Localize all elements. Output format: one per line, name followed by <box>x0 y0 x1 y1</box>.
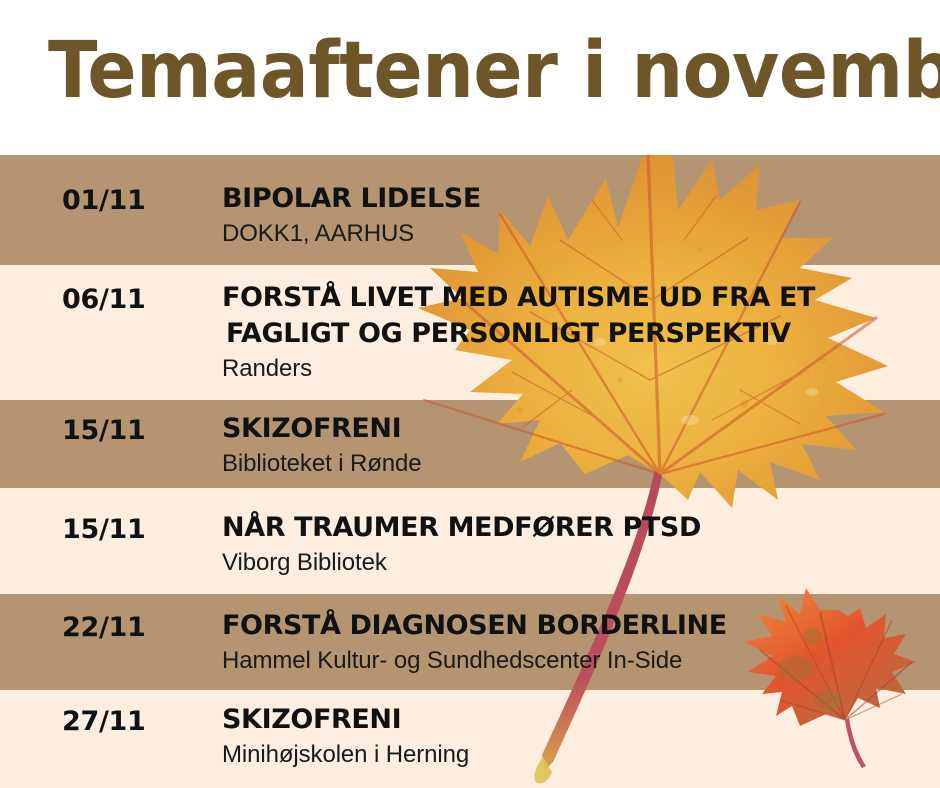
event-date: 27/11 <box>62 706 146 738</box>
event-place: Minihøjskolen i Herning <box>222 740 930 770</box>
schedule-row[interactable]: 15/11 NÅR TRAUMER MEDFØRER PTSD Viborg B… <box>0 488 940 594</box>
event-title-line1: NÅR TRAUMER MEDFØRER PTSD <box>222 512 701 543</box>
event-title-line1: FORSTÅ LIVET MED AUTISME UD FRA ET <box>222 282 815 313</box>
event-place: Randers <box>222 354 930 384</box>
page-title: Temaaftener i november <box>48 23 940 119</box>
event-info: BIPOLAR LIDELSE DOKK1, AARHUS <box>222 181 930 249</box>
event-info: SKIZOFRENI Minihøjskolen i Herning <box>222 702 930 770</box>
event-date: 06/11 <box>62 284 146 316</box>
event-title-line2: FAGLIGT OG PERSONLIGT PERSPEKTIV <box>226 316 930 352</box>
schedule-row[interactable]: 27/11 SKIZOFRENI Minihøjskolen i Herning <box>0 690 940 788</box>
event-place: DOKK1, AARHUS <box>222 219 930 249</box>
event-title: SKIZOFRENI <box>222 702 930 738</box>
event-place: Biblioteket i Rønde <box>222 449 930 479</box>
schedule-row[interactable]: 01/11 BIPOLAR LIDELSE DOKK1, AARHUS <box>0 155 940 265</box>
schedule-row[interactable]: 22/11 FORSTÅ DIAGNOSEN BORDERLINE Hammel… <box>0 594 940 690</box>
event-date: 15/11 <box>62 514 146 546</box>
schedule-row[interactable]: 06/11 FORSTÅ LIVET MED AUTISME UD FRA ET… <box>0 265 940 400</box>
event-info: FORSTÅ LIVET MED AUTISME UD FRA ET FAGLI… <box>222 280 930 384</box>
event-title: BIPOLAR LIDELSE <box>222 181 930 217</box>
event-title-line1: SKIZOFRENI <box>222 704 401 735</box>
event-info: SKIZOFRENI Biblioteket i Rønde <box>222 411 930 479</box>
schedule-row[interactable]: 15/11 SKIZOFRENI Biblioteket i Rønde <box>0 400 940 488</box>
event-place: Hammel Kultur- og Sundhedscenter In-Side <box>222 646 930 676</box>
event-place: Viborg Bibliotek <box>222 548 930 578</box>
event-date: 22/11 <box>62 612 146 644</box>
event-title: FORSTÅ DIAGNOSEN BORDERLINE <box>222 608 930 644</box>
event-title: FORSTÅ LIVET MED AUTISME UD FRA ET FAGLI… <box>222 280 930 352</box>
event-title: SKIZOFRENI <box>222 411 930 447</box>
poster-canvas: 01/11 BIPOLAR LIDELSE DOKK1, AARHUS 06/1… <box>0 0 940 788</box>
event-info: FORSTÅ DIAGNOSEN BORDERLINE Hammel Kultu… <box>222 608 930 676</box>
event-date: 15/11 <box>62 415 146 447</box>
poster-header: Temaaftener i november <box>0 0 940 155</box>
event-title: NÅR TRAUMER MEDFØRER PTSD <box>222 510 930 546</box>
event-title-line1: SKIZOFRENI <box>222 413 401 444</box>
event-info: NÅR TRAUMER MEDFØRER PTSD Viborg Bibliot… <box>222 510 930 578</box>
event-date: 01/11 <box>62 185 146 217</box>
event-title-line1: FORSTÅ DIAGNOSEN BORDERLINE <box>222 610 727 641</box>
event-title-line1: BIPOLAR LIDELSE <box>222 183 481 214</box>
